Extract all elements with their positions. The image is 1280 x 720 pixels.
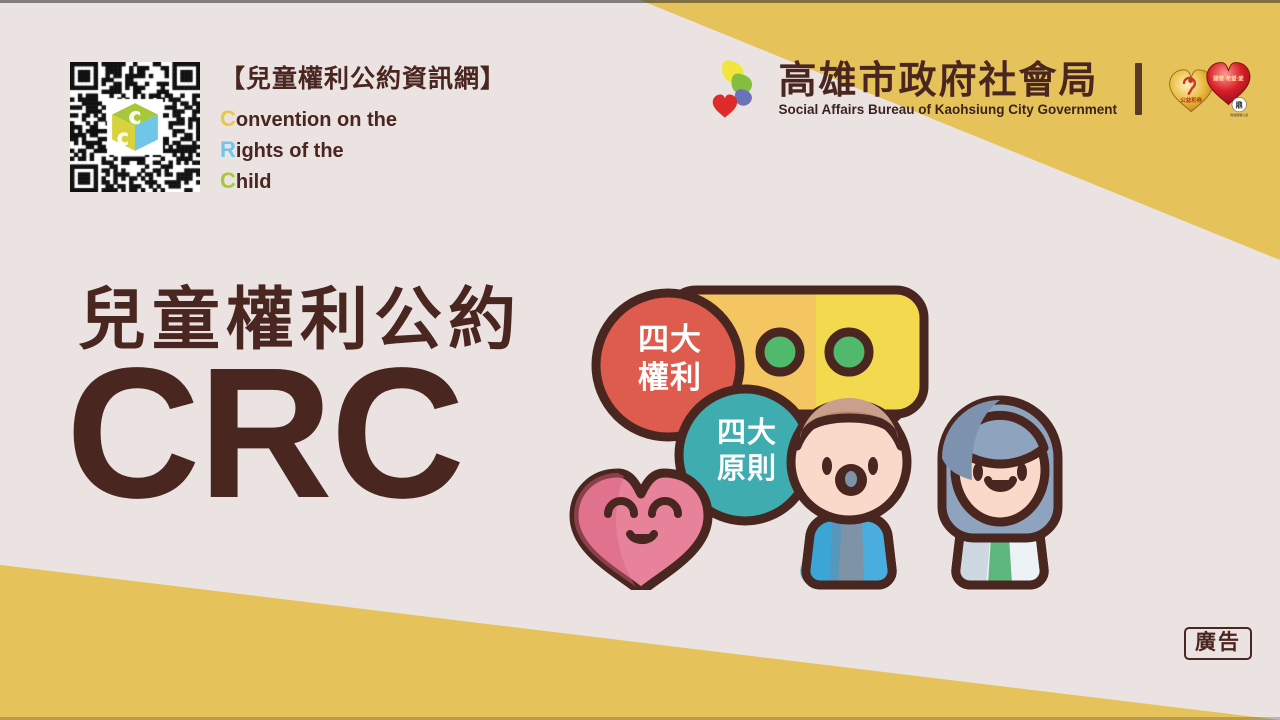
public-welfare-lottery-logo-icon: 關懷·希望·愛 公益彩券 鼎 財政部關心您	[1166, 59, 1262, 119]
crc-info-block: 【兒童權利公約資訊網】 Convention on the Rights of …	[70, 62, 506, 197]
headline-block: 兒童權利公約 CRC	[78, 286, 522, 521]
svg-text:四大: 四大	[638, 322, 702, 357]
character-girl	[942, 400, 1058, 585]
acronym-rest-3: hild	[236, 171, 272, 193]
government-name-en: Social Affairs Bureau of Kaohsiung City …	[778, 103, 1117, 117]
acronym-rest-2: ights of the	[236, 140, 344, 162]
kaohsiung-petal-heart-icon	[708, 58, 764, 120]
logo-divider	[1135, 63, 1142, 115]
acronym-line-1: Convention on the	[220, 103, 506, 134]
government-name: 高雄市政府社會局 Social Affairs Bureau of Kaohsi…	[778, 62, 1117, 117]
crc-wordmark: 【兒童權利公約資訊網】 Convention on the Rights of …	[220, 62, 506, 197]
site-name-label: 【兒童權利公約資訊網】	[220, 66, 506, 94]
character-boy	[791, 398, 907, 585]
poster-canvas: 【兒童權利公約資訊網】 Convention on the Rights of …	[0, 0, 1280, 720]
svg-text:四大: 四大	[717, 416, 777, 449]
government-name-cn: 高雄市政府社會局	[778, 62, 1117, 100]
background-wedge-top-right	[640, 0, 1280, 260]
acronym-cap-c: C	[220, 106, 236, 131]
svg-text:財政部關心您: 財政部關心您	[1230, 112, 1248, 117]
svg-text:鼎: 鼎	[1236, 101, 1243, 110]
acronym-line-2: Rights of the	[220, 134, 506, 165]
acronym-rest-1: onvention on the	[236, 109, 397, 131]
crc-illustration: 四大 權利 四大 原則	[548, 280, 1108, 590]
acronym-cap-r: R	[220, 137, 236, 162]
svg-text:原則: 原則	[717, 452, 777, 485]
government-logo-block: 高雄市政府社會局 Social Affairs Bureau of Kaohsi…	[708, 58, 1262, 120]
acronym-line-3: Child	[220, 165, 506, 196]
crc-cube-logo-icon	[109, 101, 161, 153]
svg-text:權利: 權利	[638, 360, 702, 395]
acronym-cap-c2: C	[220, 168, 236, 193]
page-title-en: CRC	[66, 348, 522, 521]
ad-badge: 廣告	[1184, 627, 1252, 660]
heart-mascot	[574, 473, 708, 590]
qr-code[interactable]	[70, 62, 200, 192]
top-edge-line	[0, 0, 1280, 3]
